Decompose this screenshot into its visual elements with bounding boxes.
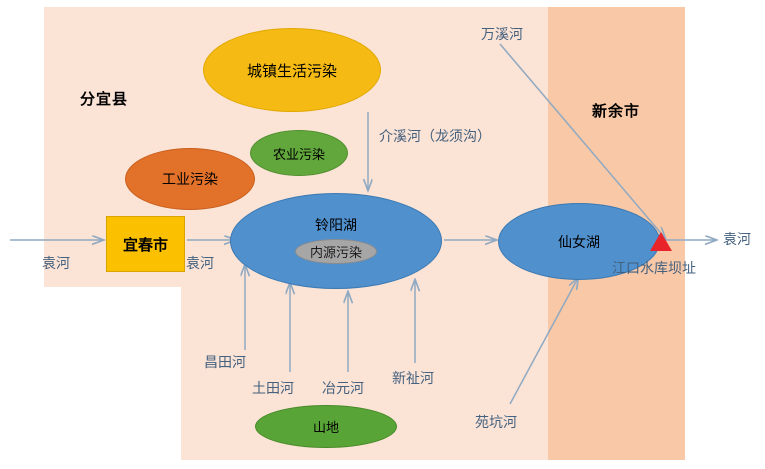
river-label-wanxihe: 万溪河: [481, 24, 523, 44]
node-agricultural-pollution[interactable]: 农业污染: [250, 130, 348, 176]
node-yichun-city[interactable]: 宜春市: [106, 216, 185, 272]
node-lingyang-lake-label: 铃阳湖: [315, 215, 357, 235]
river-label-yuanhe-inflow: 袁河: [42, 253, 70, 273]
node-internal-pollution: 内源污染: [295, 239, 377, 264]
diagram-canvas: 分宜县 新余市 城镇生活污染 农业污染 工业污染 宜春市 铃阳湖 内源污染 仙女…: [0, 0, 765, 469]
river-label-yuanhe-middle: 袁河: [186, 253, 214, 273]
river-label-changtianhe: 昌田河: [204, 352, 246, 372]
river-label-xinzhihe: 新祉河: [392, 368, 434, 388]
river-label-yuanhe-outflow: 袁河: [723, 229, 751, 249]
river-label-tutianhe: 土田河: [252, 378, 294, 398]
region-label-xinyu: 新余市: [592, 100, 640, 121]
region-label-fenyi: 分宜县: [80, 88, 128, 109]
dam-site-triangle-icon: [650, 232, 672, 251]
river-label-yuankenghe: 苑坑河: [475, 412, 517, 432]
node-mountain[interactable]: 山地: [255, 405, 397, 448]
node-urban-pollution[interactable]: 城镇生活污染: [203, 28, 381, 112]
river-label-jiexihe: 介溪河（龙须沟）: [379, 126, 491, 146]
node-lingyang-lake[interactable]: 铃阳湖 内源污染: [230, 193, 442, 289]
node-industrial-pollution[interactable]: 工业污染: [125, 148, 255, 210]
river-label-yeyuanhe: 冶元河: [322, 378, 364, 398]
marker-label-dam-site: 江口水库坝址: [612, 258, 696, 278]
